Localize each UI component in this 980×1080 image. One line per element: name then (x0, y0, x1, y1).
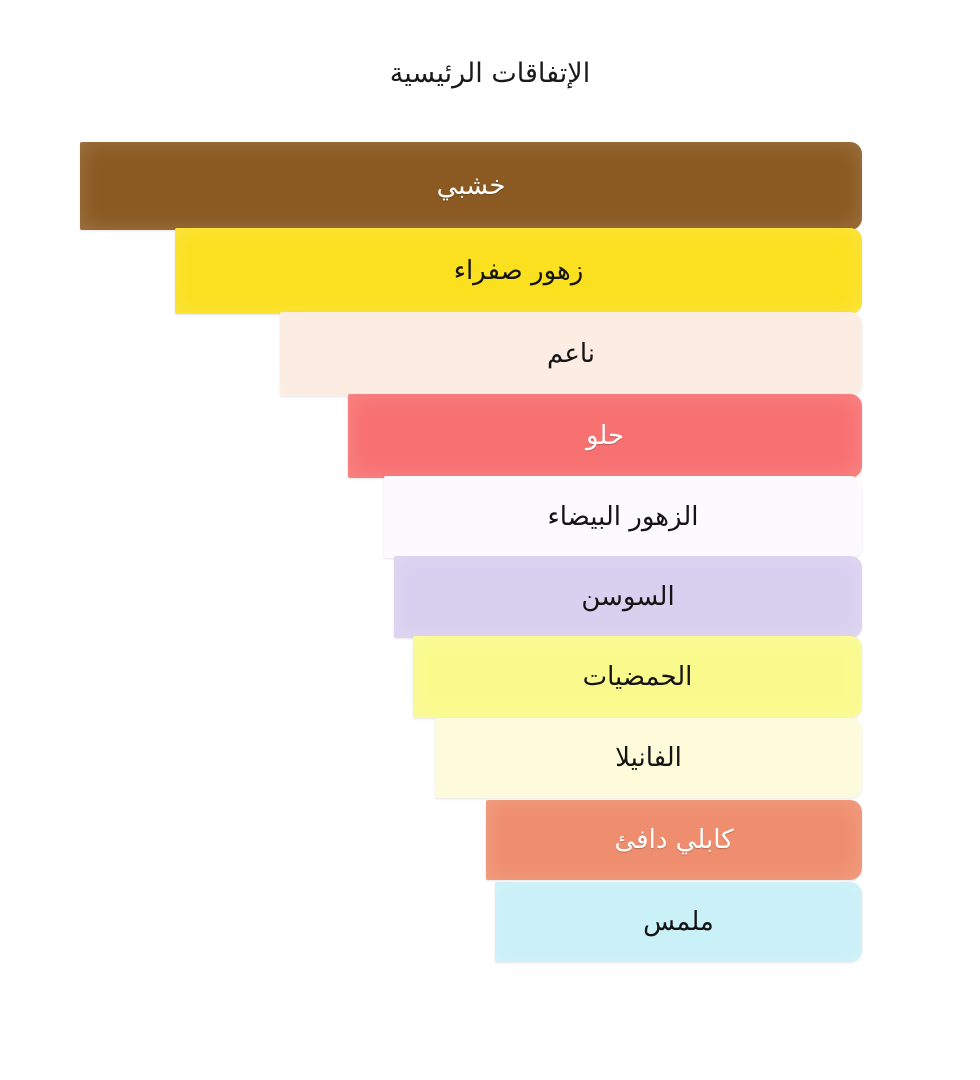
funnel-bar-label: الحمضيات (583, 664, 693, 690)
funnel-bar-label: ناعم (547, 341, 595, 367)
funnel-bar-label: الزهور البيضاء (548, 504, 699, 530)
bars-container: خشبيزهور صفراءناعمحلوالزهور البيضاءالسوس… (0, 0, 980, 1080)
funnel-bar-label: زهور صفراء (454, 258, 584, 284)
funnel-bar-label: السوسن (581, 584, 674, 610)
funnel-bar[interactable]: ملمس (495, 882, 862, 962)
funnel-bar-label: كابلي دافئ (615, 827, 734, 853)
funnel-bar[interactable]: الفانيلا (435, 718, 862, 798)
funnel-bar[interactable]: كابلي دافئ (486, 800, 862, 880)
funnel-bar-label: ملمس (643, 909, 714, 935)
funnel-bar-label: حلو (586, 423, 624, 449)
funnel-bar[interactable]: ناعم (280, 312, 862, 396)
funnel-bar-label: خشبي (437, 173, 506, 199)
funnel-bar-label: الفانيلا (615, 745, 682, 771)
funnel-bar[interactable]: خشبي (80, 142, 862, 230)
funnel-bar[interactable]: زهور صفراء (175, 228, 862, 314)
funnel-bar[interactable]: الحمضيات (413, 636, 862, 718)
funnel-bar[interactable]: الزهور البيضاء (384, 476, 862, 558)
funnel-chart-canvas: الإتفاقات الرئيسية خشبيزهور صفراءناعمحلو… (0, 0, 980, 1080)
funnel-bar[interactable]: السوسن (394, 556, 862, 638)
funnel-bar[interactable]: حلو (348, 394, 862, 478)
